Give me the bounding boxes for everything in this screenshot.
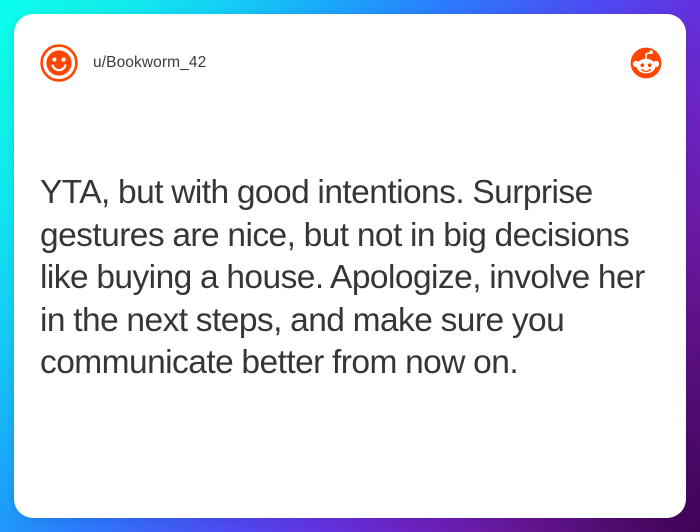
reddit-logo[interactable] — [630, 47, 662, 79]
card-body: YTA, but with good intentions. Surprise … — [14, 112, 686, 385]
comment-text: YTA, but with good intentions. Surprise … — [40, 172, 660, 385]
reddit-comment-card: u/Bookworm_42 — [14, 14, 686, 518]
screenshot-root: u/Bookworm_42 — [0, 0, 700, 532]
reddit-snoo-logo-icon — [630, 47, 662, 79]
smiley-face-avatar-icon — [40, 44, 78, 82]
username-label: u/Bookworm_42 — [93, 54, 206, 72]
avatar[interactable] — [40, 44, 78, 82]
card-header: u/Bookworm_42 — [14, 14, 686, 112]
